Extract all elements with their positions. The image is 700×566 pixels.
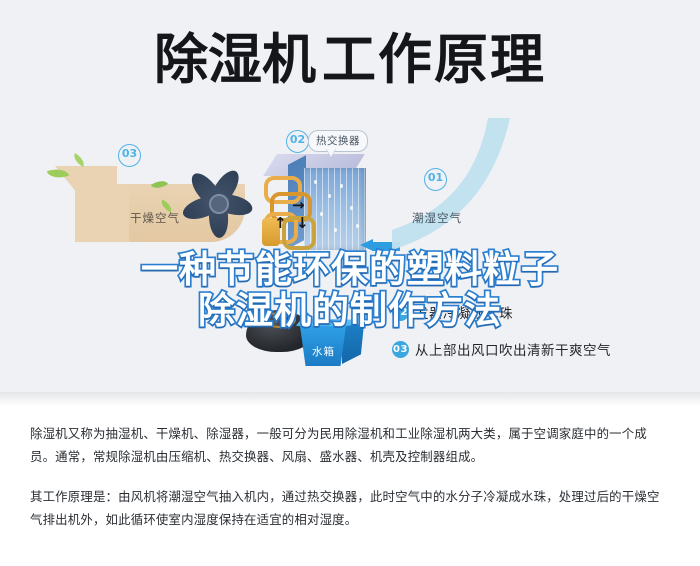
description-panel: 除湿机又称为抽湿机、干燥机、除湿器，一般可分为民用除湿机和工业除湿机两大类，属于…: [0, 392, 700, 566]
flow-arrow-right-icon: →: [292, 198, 305, 213]
page-title-part1: 除湿机: [154, 28, 316, 91]
water-droplet-icon: [320, 212, 323, 216]
water-droplet-icon: [314, 180, 317, 184]
refrigerant-coil-icon: [262, 172, 314, 250]
water-droplet-icon: [340, 184, 343, 188]
watermark-line-1: 一种节能环保的塑料粒子: [0, 248, 700, 291]
legend-text-03: 从上部出风口吹出清新干爽空气: [415, 339, 611, 359]
callout-badge-02-diagram: 02: [286, 130, 309, 153]
page-title-part2: 工作原理: [322, 28, 546, 91]
fan-hub: [209, 194, 229, 214]
flow-arrow-up-icon: ↑: [274, 216, 287, 231]
callout-badge-01-diagram: 01: [424, 168, 447, 191]
page-title: 除湿机工作原理: [0, 28, 700, 92]
watermark-headline: 一种节能环保的塑料粒子 除湿机的制作方法: [0, 248, 700, 332]
panel-top-shadow: [0, 392, 700, 406]
legend-item-03: 03 从上部出风口吹出清新干爽空气: [392, 339, 611, 359]
dry-air-arrow-head-fill: [75, 184, 129, 242]
water-droplet-icon: [328, 194, 331, 198]
water-droplet-icon: [350, 206, 353, 210]
water-droplet-icon: [356, 224, 359, 228]
heat-exchanger-tag: 热交换器: [308, 130, 368, 152]
description-paragraph-1: 除湿机又称为抽湿机、干燥机、除湿器，一般可分为民用除湿机和工业除湿机两大类，属于…: [0, 422, 700, 468]
water-droplet-icon: [334, 228, 337, 232]
tag-pointer-icon: [326, 148, 336, 157]
water-tank-label: 水箱: [312, 344, 335, 359]
description-paragraph-2: 其工作原理是：由风机将潮湿空气抽入机内，通过热交换器，此时空气中的水分子冷凝成水…: [0, 485, 700, 531]
dry-air-label: 干燥空气: [130, 210, 180, 226]
page-root: 除湿机工作原理 03 干燥空气: [0, 0, 700, 566]
flow-arrow-down-icon: ↓: [296, 216, 309, 231]
watermark-line-2: 除湿机的制作方法: [0, 289, 700, 332]
humid-air-label: 潮湿空气: [412, 210, 462, 226]
callout-badge-03-diagram: 03: [118, 144, 141, 167]
fan-icon: [185, 158, 263, 244]
legend-badge-03: 03: [392, 341, 409, 358]
